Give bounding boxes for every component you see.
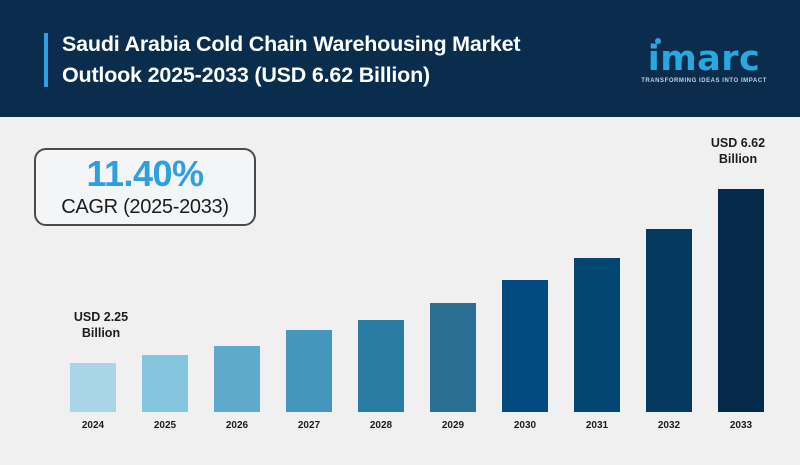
bar-2026 [214, 346, 260, 412]
end-value-unit: Billion [690, 151, 786, 167]
end-value-amount: USD 6.62 [690, 135, 786, 151]
end-value-callout: USD 6.62 Billion [690, 135, 786, 167]
start-value-unit: Billion [46, 325, 156, 341]
bar-2032 [646, 229, 692, 412]
bar-2029 [430, 303, 476, 412]
bar-2031 [574, 258, 620, 412]
start-value-amount: USD 2.25 [46, 309, 156, 325]
start-value-callout: USD 2.25 Billion [46, 309, 156, 341]
year-label-2026: 2026 [202, 420, 272, 431]
bar-2028 [358, 320, 404, 412]
year-label-2029: 2029 [418, 420, 488, 431]
bar-chart: 2024202520262027202820292030203120322033 [0, 0, 800, 465]
bar-2027 [286, 330, 332, 412]
year-label-2032: 2032 [634, 420, 704, 431]
year-label-2024: 2024 [58, 420, 128, 431]
year-label-2027: 2027 [274, 420, 344, 431]
year-label-2031: 2031 [562, 420, 632, 431]
bar-2024 [70, 363, 116, 412]
bar-2025 [142, 355, 188, 412]
year-label-2030: 2030 [490, 420, 560, 431]
bar-2030 [502, 280, 548, 412]
year-label-2033: 2033 [706, 420, 776, 431]
year-label-2028: 2028 [346, 420, 416, 431]
year-label-2025: 2025 [130, 420, 200, 431]
bar-2033 [718, 189, 764, 412]
